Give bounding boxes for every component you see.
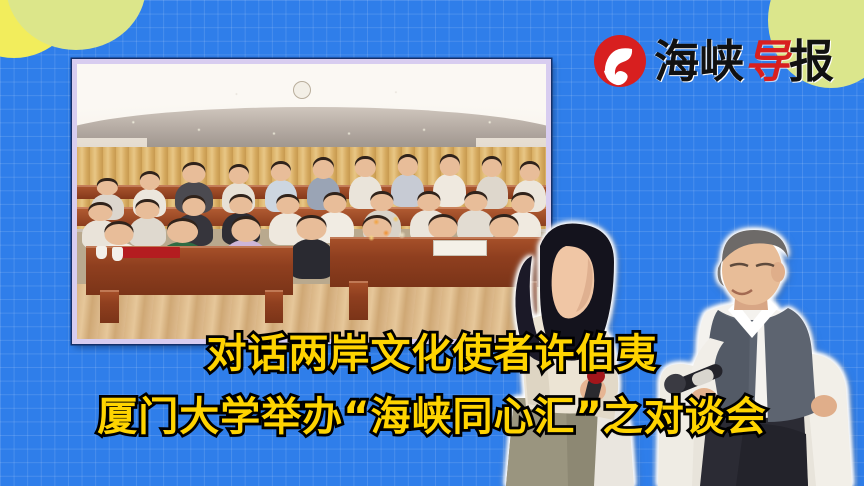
desk-leg: [265, 290, 284, 323]
video-thumbnail: 海 峡 导 报 对话两岸文化使者许伯夷 厦门大学举办“海峡同心汇”之对谈会: [0, 0, 864, 486]
red-certificate: [119, 247, 180, 258]
desk-leg: [100, 290, 119, 323]
flower-bouquet: [358, 207, 419, 257]
publisher-logo[interactable]: 海 峡 导 报: [592, 33, 834, 89]
logo-char-2: 峡: [699, 39, 744, 84]
logo-char-4: 报: [789, 39, 834, 84]
logo-char-1: 海: [654, 39, 699, 84]
person: [288, 239, 335, 279]
red-circle-wave-emblem-icon: [592, 33, 648, 89]
publisher-name: 海 峡 导 报: [654, 39, 834, 84]
tea-cup: [112, 247, 123, 261]
logo-char-3: 导: [744, 39, 789, 84]
wall-clock-icon: [293, 81, 311, 99]
caption-line-1: 对话两岸文化使者许伯夷: [0, 321, 864, 379]
desk-leg: [349, 281, 368, 320]
caption-line-2: 厦门大学举办“海峡同心汇”之对谈会: [0, 384, 864, 442]
person: [129, 217, 167, 247]
tea-cup: [96, 246, 107, 260]
